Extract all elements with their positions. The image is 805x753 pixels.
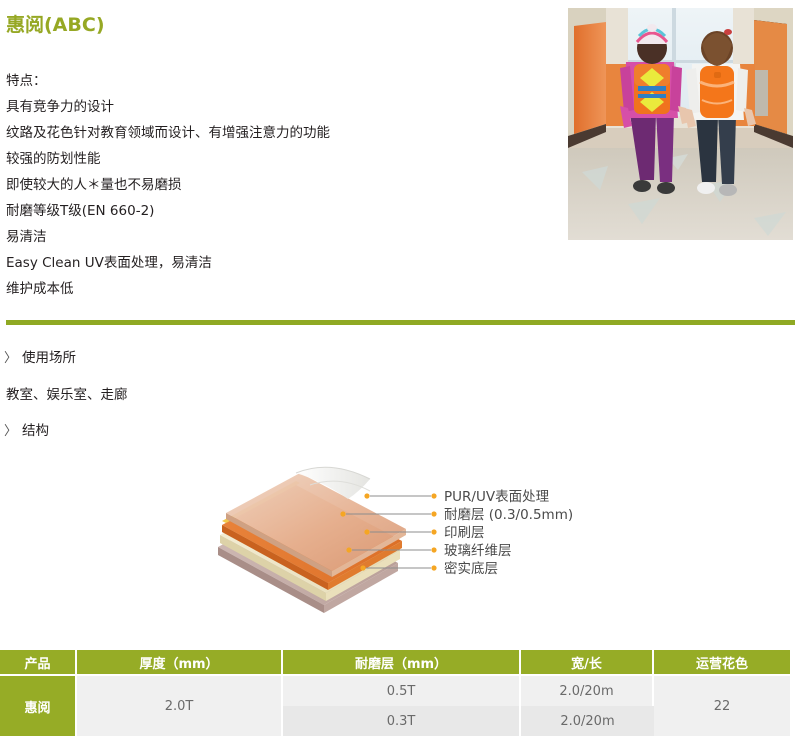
feature-line: 耐磨等级T级(EN 660-2) bbox=[6, 198, 551, 224]
specification-table: 产品 厚度（mm） 耐磨层（mm） 宽/长 运营花色 惠阅 2.0T 0.5T … bbox=[0, 650, 790, 736]
feature-line: 易清洁 bbox=[6, 224, 551, 250]
features-list: 特点： 具有竞争力的设计 纹路及花色针对教育领域而设计、有增强注意力的功能 较强… bbox=[6, 68, 551, 302]
section-divider bbox=[6, 320, 795, 325]
table-header-row: 产品 厚度（mm） 耐磨层（mm） 宽/长 运营花色 bbox=[0, 650, 790, 676]
page-title: 惠阅(ABC) bbox=[6, 10, 105, 37]
feature-line: 即使较大的人＊量也不易磨损 bbox=[6, 172, 551, 198]
feature-line: 维护成本低 bbox=[6, 276, 551, 302]
layer-label-pur-uv: PUR/UV表面处理 bbox=[444, 489, 550, 505]
table-row: 惠阅 2.0T 0.5T 2.0/20m 22 bbox=[0, 676, 790, 706]
cell-product: 惠阅 bbox=[0, 676, 77, 736]
layer-label-wear: 耐磨层 (0.3/0.5mm) bbox=[444, 507, 573, 523]
col-header-wear: 耐磨层（mm） bbox=[283, 650, 521, 676]
layer-label-print: 印刷层 bbox=[444, 525, 485, 541]
section-heading-usage-label: 使用场所 bbox=[22, 350, 76, 366]
cell-wear-layer: 0.5T bbox=[283, 676, 521, 706]
layer-label-glassfiber: 玻璃纤维层 bbox=[444, 542, 512, 559]
section-heading-structure-label: 结构 bbox=[22, 423, 49, 439]
col-header-size: 宽/长 bbox=[521, 650, 654, 676]
cell-colors: 22 bbox=[654, 676, 790, 736]
chevron-right-icon: 〉 bbox=[4, 347, 22, 366]
feature-line: 具有竞争力的设计 bbox=[6, 94, 551, 120]
section-heading-structure: 〉结构 bbox=[4, 419, 49, 439]
feature-line: 特点： bbox=[6, 68, 551, 94]
chevron-right-icon: 〉 bbox=[4, 420, 22, 439]
usage-locations-text: 教室、娱乐室、走廊 bbox=[6, 383, 128, 403]
feature-line: 纹路及花色针对教育领域而设计、有增强注意力的功能 bbox=[6, 120, 551, 146]
feature-line: Easy Clean UV表面处理，易清洁 bbox=[6, 250, 551, 276]
col-header-product: 产品 bbox=[0, 650, 77, 676]
section-heading-usage: 〉使用场所 bbox=[4, 346, 76, 366]
cell-thickness: 2.0T bbox=[77, 676, 283, 736]
col-header-thickness: 厚度（mm） bbox=[77, 650, 283, 676]
cell-size: 2.0/20m bbox=[521, 706, 654, 736]
layer-label-dense-base: 密实底层 bbox=[444, 560, 498, 577]
cell-size: 2.0/20m bbox=[521, 676, 654, 706]
cell-wear-layer: 0.3T bbox=[283, 706, 521, 736]
layer-structure-diagram: PUR/UV表面处理 耐磨层 (0.3/0.5mm) 印刷层 玻璃纤维层 密实底… bbox=[200, 455, 620, 615]
children-walking-hallway-photo bbox=[568, 8, 793, 240]
col-header-colors: 运营花色 bbox=[654, 650, 790, 676]
feature-line: 较强的防划性能 bbox=[6, 146, 551, 172]
